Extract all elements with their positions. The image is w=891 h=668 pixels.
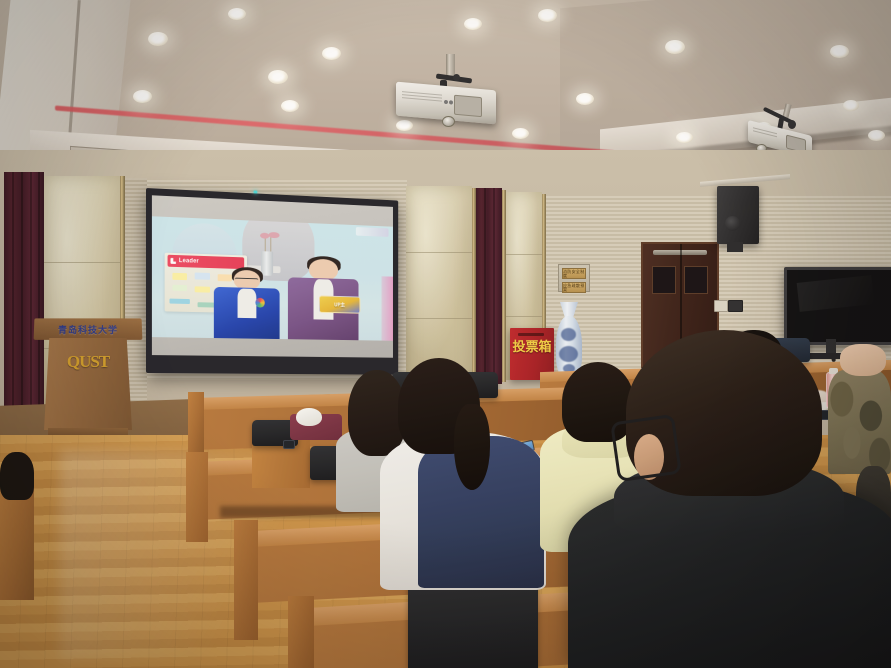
glasses-icon <box>610 414 682 482</box>
downlight-icon <box>281 100 299 112</box>
sticky-note <box>170 299 190 304</box>
door-window <box>684 266 708 294</box>
wall-socket <box>728 300 743 312</box>
downlight-icon <box>576 93 594 105</box>
downlight-icon <box>512 128 529 139</box>
desk-end-panel <box>186 452 208 542</box>
broadcast-image: Leader <box>152 216 393 341</box>
wall-curtain-column <box>476 188 502 384</box>
white-pouch <box>296 408 322 426</box>
university-logo: QUST <box>67 352 109 372</box>
plaque-line-1: 消防安全制度 <box>563 270 585 278</box>
status-led-icon <box>254 190 258 193</box>
broadcast-edge-gradient <box>382 277 393 342</box>
presenter-glasses-icon <box>235 277 258 282</box>
plaque-line-2: 应急疏散预案 <box>563 284 585 292</box>
downlight-icon <box>868 130 885 141</box>
leader-logo-icon <box>170 258 176 264</box>
student-far-left <box>0 452 40 512</box>
sticky-note <box>172 285 187 291</box>
student-black-hoodie-glasses <box>568 330 891 668</box>
speaker-driver-icon <box>725 216 740 231</box>
university-name: 青岛科技大学 <box>58 323 118 336</box>
desk-end-panel <box>188 392 204 460</box>
student-ponytail-navy <box>380 358 546 588</box>
wall-speaker <box>717 186 759 244</box>
projection-screen: Leader <box>146 188 398 375</box>
desk-end-panel <box>234 520 258 640</box>
ballot-slot <box>518 333 544 336</box>
flower-badge-icon <box>255 298 265 308</box>
downlight-icon <box>830 45 849 58</box>
ponytail <box>454 404 490 490</box>
smartphone[interactable] <box>283 440 295 449</box>
sticky-note <box>172 273 187 281</box>
screen-surface: Leader <box>152 195 393 357</box>
marble-wall-panel <box>406 186 472 382</box>
downlight-icon <box>148 32 168 46</box>
downlight-icon <box>676 132 693 143</box>
ballot-box-label: 投票箱 <box>510 340 554 355</box>
lecture-hall-photo: 消防安全制度 应急疏散预案 <box>0 0 891 668</box>
lectern-header: 青岛科技大学 <box>34 318 143 340</box>
plaque-row: 应急疏散预案 <box>562 282 586 293</box>
downlight-icon <box>133 90 152 103</box>
downlight-icon <box>322 47 341 60</box>
presenter-shirt <box>237 289 256 319</box>
projector-lens-icon <box>442 116 455 127</box>
downlight-icon <box>464 18 482 30</box>
sticky-note <box>195 286 210 292</box>
downlight-icon <box>268 70 288 84</box>
lectern: 青岛科技大学 QUST <box>34 318 142 438</box>
plaque-row: 消防安全制度 <box>562 268 586 279</box>
sticky-note <box>195 272 210 280</box>
speaker-bracket <box>727 242 743 252</box>
wall-plaque: 消防安全制度 应急疏散预案 <box>558 264 590 292</box>
wall-socket <box>714 300 728 312</box>
leader-brand-text: Leader <box>179 258 199 265</box>
tv-screen-glare <box>796 275 873 311</box>
desk-end-panel <box>288 596 314 668</box>
downlight-icon <box>228 8 246 20</box>
presenter-left <box>212 264 280 339</box>
door-window <box>652 266 676 294</box>
broadcast-channel-logo <box>356 227 388 236</box>
broadcast-corner-badge: UP主 <box>319 296 360 314</box>
downlight-icon <box>843 100 859 111</box>
projector-icon <box>396 60 504 126</box>
downlight-icon <box>665 40 685 54</box>
hair <box>0 452 34 500</box>
downlight-icon <box>538 9 557 22</box>
